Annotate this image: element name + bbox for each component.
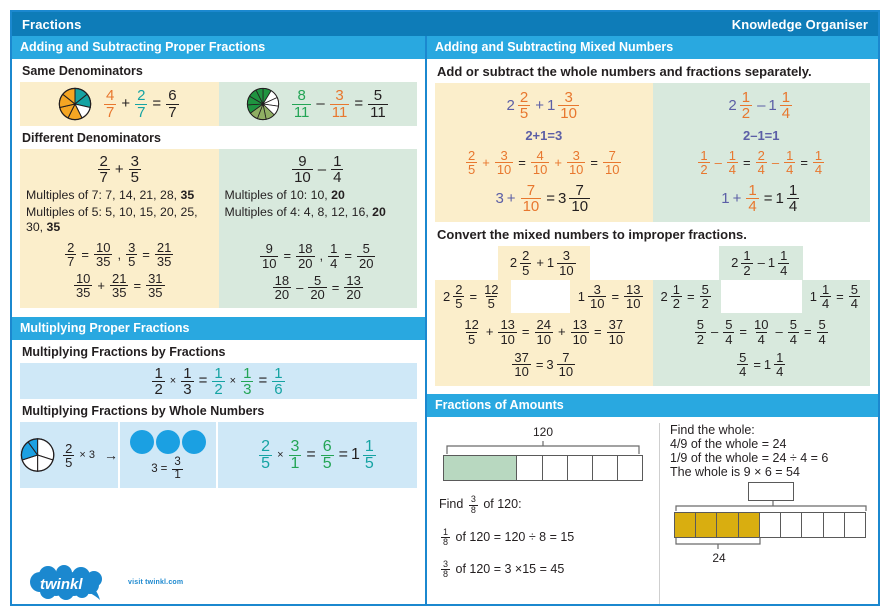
section-header-multiplying: Multiplying Proper Fractions [12, 317, 425, 340]
same-denom-left-panel: 47 + 27 = 67 [20, 82, 219, 126]
improper-right-conv2: 1 14 = 54 [802, 280, 870, 314]
multiples-lcm: 35 [47, 220, 61, 234]
instruction-convert-improper: Convert the mixed numbers to improper fr… [427, 222, 878, 246]
mixed-numbers-row: 2 25 + 1 310 2+1=3 25 + [435, 83, 870, 222]
multiply-whole-circles-cell: 3 = 31 [120, 422, 218, 488]
bar-segment [618, 455, 643, 481]
arrow-right-icon: → [104, 447, 118, 463]
equation-diff-denom-step2-left: 1035 + 2135 = 3135 [72, 272, 167, 300]
improper-left-conv2: 1 310 = 1310 [570, 280, 653, 314]
improper-fractions-block: 2 25 + 1 310 2 25 [435, 246, 870, 386]
improper-left-problem: 2 25 + 1 310 [498, 246, 590, 280]
multiples-line-2-right: Multiples of 4: 4, 8, 12, 16, 20 [219, 203, 418, 220]
equation-fractions-left: 25 + 310 = 410 + 310 = 710 [464, 149, 623, 177]
bar-segment [568, 455, 593, 481]
improper-left-conv1: 2 25 = 125 [435, 280, 511, 314]
equation-final-left: 3 + 710 = 3 710 [495, 183, 592, 215]
equation-wholes-left: 2+1=3 [525, 129, 562, 143]
multiples-lcm: 35 [181, 188, 195, 202]
multiples-text: Multiples of 10: 10, [225, 188, 332, 202]
section-header-adding-proper: Adding and Subtracting Proper Fractions [12, 36, 425, 59]
brace-top-left [443, 441, 643, 455]
foa-right: Find the whole: 4/9 of the whole = 24 1/… [660, 423, 870, 604]
equation-multiply-whole: 25 × 31 = 65 = 1 15 [257, 439, 378, 473]
bar-model-120 [443, 455, 643, 481]
equation-diff-denom-problem-left: 27 + 35 [96, 154, 143, 186]
equation-mixed-problem-left: 2 25 + 1 310 [507, 90, 581, 122]
bar-segment-shaded [443, 455, 517, 481]
multiples-line-1-right: Multiples of 10: 10, 20 [219, 186, 418, 203]
diff-denom-right-panel: 910 – 14 Multiples of 10: 10, 20 Multipl… [219, 149, 418, 308]
bar-segment [760, 512, 781, 538]
pie-chart-sevenths-icon [58, 87, 92, 121]
poster: Fractions Knowledge Organiser Adding and… [10, 10, 880, 606]
right-column: Adding and Subtracting Mixed Numbers Add… [427, 36, 878, 604]
find-three-eighths-label: Find 38 of 120: [439, 495, 522, 514]
bar-segment [593, 455, 618, 481]
three-eighths-of-120-line: 38 of 120 = 3 ×15 = 45 [439, 560, 564, 579]
multiples-lcm: 20 [372, 205, 386, 219]
bar-segment [781, 512, 802, 538]
improper-right: 2 12 – 1 14 2 12 [653, 246, 871, 386]
equation-wholes-right: 2–1=1 [743, 129, 780, 143]
left-column: Adding and Subtracting Proper Fractions … [12, 36, 427, 604]
equation-mixed-problem-right: 2 12 – 1 14 [728, 90, 794, 122]
mixed-right-panel: 2 12 – 1 14 2–1=1 12 – [653, 83, 871, 222]
multiples-line-1-left: Multiples of 7: 7, 14, 21, 28, 35 [20, 186, 219, 203]
bar-model-nine-segments [674, 512, 866, 538]
page-title: Fractions [22, 17, 81, 32]
multiples-text: Multiples of 7: 7, 14, 21, 28, [26, 188, 181, 202]
fractions-of-amounts-body: 120 Find [427, 417, 878, 604]
foa-left: 120 Find [435, 423, 660, 604]
bar-segment-shaded [696, 512, 717, 538]
diff-denom-left-panel: 27 + 35 Multiples of 7: 7, 14, 21, 28, 3… [20, 149, 219, 308]
bar-segment [824, 512, 845, 538]
pie-chart-elevenths-icon [246, 87, 280, 121]
multiply-whole-pie-cell: 25 × 3 → [20, 422, 120, 488]
bar-label-120: 120 [533, 425, 553, 439]
twinkl-cloud-logo-icon[interactable]: twinkl [26, 564, 122, 600]
improper-right-problem: 2 12 – 1 14 [719, 246, 803, 280]
page-subtitle: Knowledge Organiser [732, 17, 868, 32]
multiply-whole-equation-cell: 25 × 31 = 65 = 1 15 [218, 422, 417, 488]
bar-segment-shaded [674, 512, 696, 538]
multiples-lcm: 20 [331, 188, 345, 202]
equation-two-fifths-times-three: 25 × 3 [61, 442, 98, 470]
same-denominators-row: 47 + 27 = 67 [20, 82, 417, 126]
bar-segment [517, 455, 542, 481]
equation-improper-right-line2: 54 = 1 14 [735, 351, 787, 379]
multiply-fractions-panel: 12 × 13 = 12 × 13 = 16 [20, 363, 417, 399]
twinkl-wordmark: twinkl [40, 576, 83, 593]
equation-fractions-right: 12 – 14 = 24 – 14 = 14 [696, 149, 826, 177]
pie-chart-fifths-icon [20, 436, 55, 474]
equation-improper-right-line1: 52 – 54 = 104 – 54 = 54 [693, 318, 830, 346]
subheading-same-denominators: Same Denominators [12, 59, 425, 82]
find-whole-line3: The whole is 9 × 6 = 54 [670, 465, 870, 479]
equation-diff-denom-step2-right: 1820 – 520 = 1320 [271, 274, 365, 302]
bar-segment-shaded [739, 512, 760, 538]
section-header-mixed-numbers: Adding and Subtracting Mixed Numbers [427, 36, 878, 59]
footer-logo[interactable]: twinkl visit twinkl.com [12, 558, 425, 604]
equation-three-equals-three-over-one: 3 = 31 [151, 457, 185, 481]
equation-diff-denom-problem-right: 910 – 14 [290, 154, 345, 186]
find-whole-line1: 4/9 of the whole = 24 [670, 437, 870, 451]
eighth-of-120-line: 18 of 120 = 120 ÷ 8 = 15 [439, 528, 574, 547]
find-whole-title: Find the whole: [670, 423, 870, 437]
equation-same-denom-subtract: 811 – 311 = 511 [290, 88, 390, 120]
equation-same-denom-add: 47 + 27 = 67 [102, 88, 181, 120]
equation-final-right: 1 + 14 = 1 14 [721, 183, 801, 215]
subheading-different-denominators: Different Denominators [12, 126, 425, 149]
improper-right-working: 52 – 54 = 104 – 54 = 54 [653, 313, 871, 386]
bar-segment [543, 455, 568, 481]
equation-diff-denom-step1-right: 910 = 1820 , 14 = 520 [258, 242, 377, 270]
equation-multiply-fractions: 12 × 13 = 12 × 13 = 16 [150, 366, 286, 398]
brace-bottom-right [674, 538, 774, 549]
bar-segment [845, 512, 866, 538]
subheading-multiplying-fractions: Multiplying Fractions by Fractions [12, 340, 425, 363]
improper-right-conv1: 2 12 = 52 [653, 280, 721, 314]
title-bar: Fractions Knowledge Organiser [12, 12, 878, 36]
three-circles-icon [129, 429, 207, 455]
mixed-left-panel: 2 25 + 1 310 2+1=3 25 + [435, 83, 653, 222]
different-denominators-row: 27 + 35 Multiples of 7: 7, 14, 21, 28, 3… [20, 149, 417, 308]
bar-label-24: 24 [712, 551, 725, 565]
section-header-fractions-of-amounts: Fractions of Amounts [427, 394, 878, 417]
whole-box [748, 482, 794, 501]
multiples-line-2-left: Multiples of 5: 5, 10, 15, 20, 25, 30, 3… [20, 203, 219, 236]
instruction-add-subtract-separately: Add or subtract the whole numbers and fr… [427, 59, 878, 83]
equation-improper-left-line1: 125 + 1310 = 2410 + 1310 = 3710 [460, 318, 627, 346]
improper-left: 2 25 + 1 310 2 25 [435, 246, 653, 386]
same-denom-right-panel: 811 – 311 = 511 [219, 82, 418, 126]
improper-left-working: 125 + 1310 = 2410 + 1310 = 3710 [435, 313, 653, 386]
multiples-text: Multiples of 4: 4, 8, 12, 16, [225, 205, 373, 219]
brace-top-right [672, 501, 870, 512]
multiply-whole-row: 25 × 3 → 3 = 31 [20, 422, 417, 488]
logo-tagline: visit twinkl.com [128, 579, 183, 586]
content-columns: Adding and Subtracting Proper Fractions … [12, 36, 878, 604]
bar-segment-shaded [717, 512, 738, 538]
equation-improper-left-line2: 3710 = 3 710 [510, 351, 577, 379]
equation-diff-denom-step1-left: 27 = 1035 , 35 = 2135 [63, 241, 175, 269]
bar-model-find-whole: 24 [670, 482, 870, 567]
subheading-multiplying-whole: Multiplying Fractions by Whole Numbers [12, 399, 425, 422]
bar-segment [802, 512, 823, 538]
find-whole-line2: 1/9 of the whole = 24 ÷ 4 = 6 [670, 451, 870, 465]
